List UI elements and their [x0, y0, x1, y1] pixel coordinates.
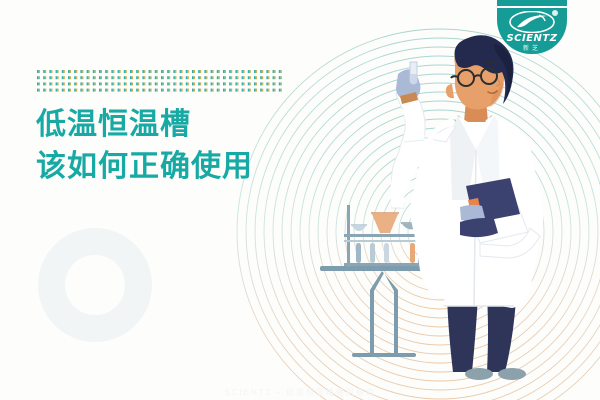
lab-shelf-rack	[344, 205, 423, 267]
glassware-top-shelf	[351, 213, 421, 233]
logo-swoosh-icon	[509, 11, 555, 33]
dot-grid-decoration	[37, 70, 285, 96]
clipboard	[466, 178, 528, 243]
donut-decoration	[38, 228, 152, 342]
title-line-2: 该如何正确使用	[36, 146, 336, 188]
footer-watermark: SCIENTZ • 低温恒温槽使用指南	[0, 387, 600, 398]
glasses-icon	[451, 68, 497, 86]
registered-mark-icon	[552, 10, 558, 16]
logo-chinese-name: 新芝	[497, 43, 567, 52]
gloved-hand-raised	[396, 69, 420, 104]
poster-root: 低温恒温槽 该如何正确使用	[0, 0, 600, 400]
test-tube-held	[410, 62, 417, 84]
page-title: 低温恒温槽 该如何正确使用	[36, 104, 336, 188]
title-line-1: 低温恒温槽	[36, 104, 336, 146]
logo-top-divider	[497, 6, 567, 8]
test-tubes-lower-shelf	[356, 243, 415, 263]
scientist-figure	[390, 35, 543, 380]
gloved-hand-clipboard	[460, 205, 498, 237]
lab-table	[320, 266, 445, 357]
brand-logo[interactable]: SCIENTZ 新芝	[497, 0, 567, 54]
